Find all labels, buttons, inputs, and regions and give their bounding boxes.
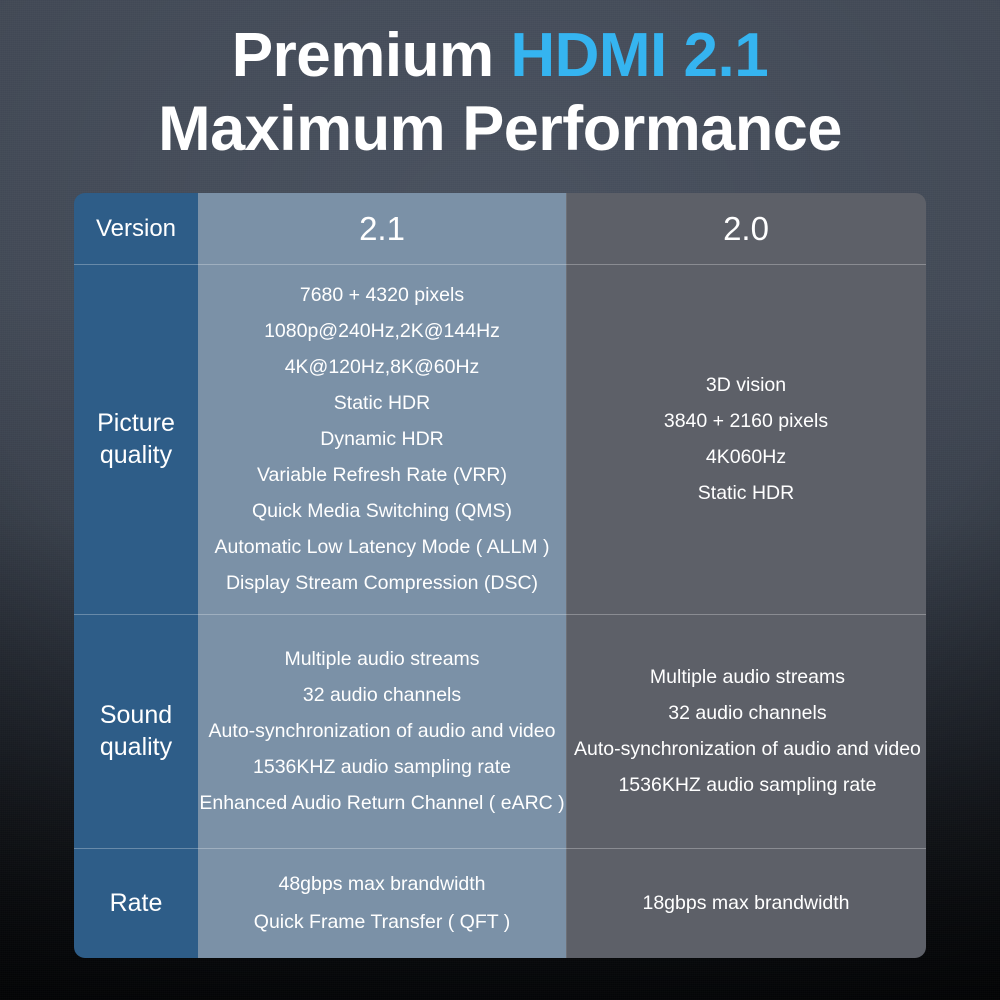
title-accent: HDMI 2.1 [510, 21, 768, 90]
cell-rate-20: 18gbps max brandwidth [566, 848, 926, 958]
list-item: Dynamic HDR [320, 421, 444, 457]
list-item: Multiple audio streams [650, 659, 845, 695]
cell-picture-quality-21: 7680 + 4320 pixels 1080p@240Hz,2K@144Hz … [198, 264, 566, 614]
table-row: Picture quality 7680 + 4320 pixels 1080p… [74, 264, 926, 614]
feature-list-21: 7680 + 4320 pixels 1080p@240Hz,2K@144Hz … [198, 277, 566, 601]
header-cell-20: 2.0 [566, 193, 926, 264]
feature-list-20: 18gbps max brandwidth [566, 884, 926, 922]
list-item: 4K@120Hz,8K@60Hz [285, 349, 480, 385]
row-label-line-1: Sound [100, 699, 172, 732]
list-item: Automatic Low Latency Mode ( ALLM ) [215, 529, 550, 565]
cell-sound-quality-21: Multiple audio streams 32 audio channels… [198, 614, 566, 848]
row-label-text: Rate [110, 887, 163, 920]
list-item: Multiple audio streams [284, 641, 479, 677]
header-cell-version: Version [74, 193, 198, 264]
table-row: Sound quality Multiple audio streams 32 … [74, 614, 926, 848]
row-label-line-2: quality [100, 731, 172, 764]
list-item: Static HDR [334, 385, 430, 421]
list-item: Auto-synchronization of audio and video [209, 713, 556, 749]
list-item: 18gbps max brandwidth [642, 884, 849, 922]
title-prefix: Premium [232, 21, 511, 90]
cell-rate-21: 48gbps max brandwidth Quick Frame Transf… [198, 848, 566, 958]
header-label-text: Version [96, 215, 176, 243]
list-item: 32 audio channels [668, 695, 826, 731]
title-line-1: Premium HDMI 2.1 [0, 24, 1000, 87]
header-version-20: 2.0 [723, 210, 769, 248]
list-item: 32 audio channels [303, 677, 461, 713]
cell-picture-quality-20: 3D vision 3840 + 2160 pixels 4K060Hz Sta… [566, 264, 926, 614]
feature-list-21: 48gbps max brandwidth Quick Frame Transf… [198, 865, 566, 941]
feature-list-20: 3D vision 3840 + 2160 pixels 4K060Hz Sta… [566, 367, 926, 511]
row-label-text: Picture quality [97, 407, 175, 472]
list-item: 7680 + 4320 pixels [300, 277, 464, 313]
list-item: Display Stream Compression (DSC) [226, 565, 538, 601]
list-item: Auto-synchronization of audio and video [574, 731, 921, 767]
comparison-table: Version 2.1 2.0 Picture quality 7680 + 4… [74, 193, 926, 958]
feature-list-21: Multiple audio streams 32 audio channels… [198, 641, 566, 821]
poster-canvas: Premium HDMI 2.1 Maximum Performance Ver… [0, 0, 1000, 1000]
row-label-sound-quality: Sound quality [74, 614, 198, 848]
list-item: 3840 + 2160 pixels [664, 403, 828, 439]
list-item: 1080p@240Hz,2K@144Hz [264, 313, 500, 349]
list-item: Quick Frame Transfer ( QFT ) [254, 903, 510, 941]
list-item: 4K060Hz [706, 439, 786, 475]
row-label-picture-quality: Picture quality [74, 264, 198, 614]
list-item: Quick Media Switching (QMS) [252, 493, 512, 529]
row-label-line-1: Picture [97, 407, 175, 440]
header-version-21: 2.1 [359, 210, 405, 248]
header-cell-21: 2.1 [198, 193, 566, 264]
row-label-line-1: Rate [110, 887, 163, 920]
list-item: 48gbps max brandwidth [278, 865, 485, 903]
list-item: 1536KHZ audio sampling rate [618, 767, 876, 803]
title-line-2: Maximum Performance [0, 97, 1000, 161]
row-label-line-2: quality [97, 439, 175, 472]
row-label-text: Sound quality [100, 699, 172, 764]
list-item: 1536KHZ audio sampling rate [253, 749, 511, 785]
table-header-row: Version 2.1 2.0 [74, 193, 926, 264]
list-item: 3D vision [706, 367, 786, 403]
table-row: Rate 48gbps max brandwidth Quick Frame T… [74, 848, 926, 958]
page-title: Premium HDMI 2.1 Maximum Performance [0, 24, 1000, 161]
cell-sound-quality-20: Multiple audio streams 32 audio channels… [566, 614, 926, 848]
list-item: Variable Refresh Rate (VRR) [257, 457, 507, 493]
feature-list-20: Multiple audio streams 32 audio channels… [566, 659, 926, 803]
row-label-rate: Rate [74, 848, 198, 958]
list-item: Enhanced Audio Return Channel ( eARC ) [199, 785, 564, 821]
list-item: Static HDR [698, 475, 794, 511]
